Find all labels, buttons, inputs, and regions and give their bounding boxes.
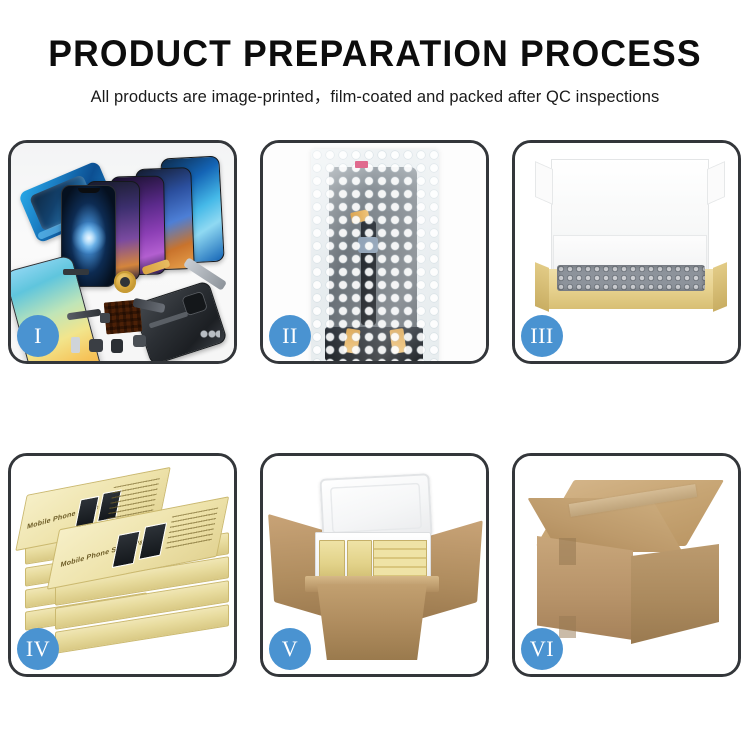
screws-part	[200, 329, 220, 339]
carton-body	[311, 584, 433, 660]
step-badge-6: VI	[521, 628, 563, 670]
phone-notch-icon	[78, 188, 100, 193]
page-header: PRODUCT PREPARATION PROCESS All products…	[0, 0, 750, 107]
copper-coil-part	[114, 271, 136, 293]
process-step-panel-3[interactable]: III	[512, 140, 741, 364]
carton-right-face	[631, 544, 719, 644]
carton-tape-side-upper	[559, 538, 576, 565]
pink-label-sticker	[355, 161, 368, 168]
process-step-panel-2[interactable]: II	[260, 140, 489, 364]
box-spec-lines-front	[165, 507, 218, 551]
process-panel-grid: I II III	[8, 140, 742, 677]
small-component-b	[111, 339, 123, 353]
sealed-shipping-carton	[529, 480, 725, 652]
carton-left-face	[537, 536, 633, 640]
small-component-e	[100, 313, 110, 323]
box-window-b1	[112, 531, 141, 569]
process-step-panel-4[interactable]: Mobile Phone Spare Parts Mobile Phone Sp…	[8, 453, 237, 677]
earpiece-part	[63, 269, 89, 275]
page-title: PRODUCT PREPARATION PROCESS	[15, 0, 735, 74]
bag-sheen-overlay	[311, 149, 439, 361]
step-badge-3: III	[521, 315, 563, 357]
step-badge-5: V	[269, 628, 311, 670]
process-step-panel-1[interactable]: I	[8, 140, 237, 364]
small-component-a	[89, 339, 103, 352]
step-badge-4: IV	[17, 628, 59, 670]
carton-tape-side-lower	[559, 616, 576, 638]
box-window-b2	[138, 522, 167, 560]
page-subtitle: All products are image-printed，film-coat…	[0, 74, 750, 107]
small-component-d	[71, 337, 80, 353]
step-badge-2: II	[269, 315, 311, 357]
small-component-c	[133, 335, 146, 347]
bubble-wrapped-contents	[557, 265, 705, 291]
step-badge-1: I	[17, 315, 59, 357]
process-step-panel-5[interactable]: V	[260, 453, 489, 677]
process-step-panel-6[interactable]: VI	[512, 453, 741, 677]
bubble-wrap-bag	[311, 149, 439, 361]
